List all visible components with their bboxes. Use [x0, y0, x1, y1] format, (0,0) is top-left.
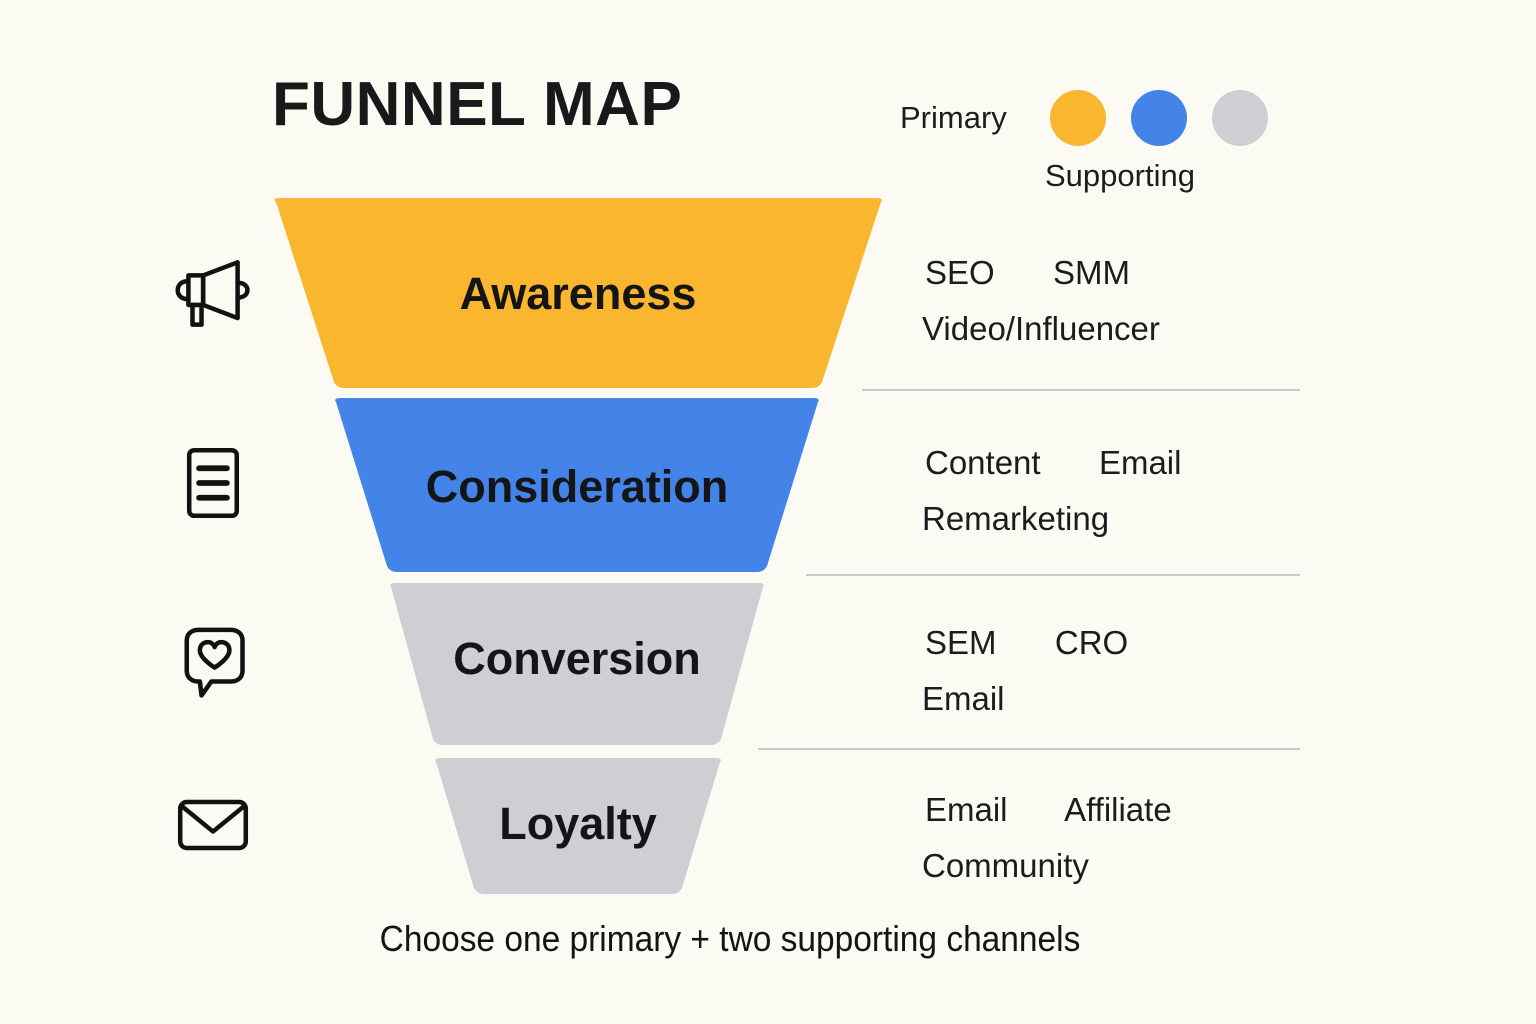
divider-2 [806, 574, 1300, 576]
funnel-segment-consideration[interactable]: Consideration [330, 396, 824, 574]
channel-list-awareness: SEO SMM Video/Influencer [925, 245, 1160, 357]
funnel-label-loyalty: Loyalty [430, 801, 726, 846]
channel-awareness-2: SMM [1053, 254, 1130, 291]
channel-awareness-3: Video/Influencer [922, 310, 1160, 347]
channel-loyalty-2: Affiliate [1064, 791, 1172, 828]
channel-conversion-3: Email [922, 680, 1005, 717]
channel-line-primary: Email Affiliate [925, 782, 1172, 838]
channel-list-consideration: Content Email Remarketing [925, 435, 1181, 547]
channel-list-loyalty: Email Affiliate Community [925, 782, 1172, 894]
channel-line-secondary: Email [922, 671, 1128, 727]
channel-list-conversion: SEM CRO Email [925, 615, 1128, 727]
funnel-segment-conversion[interactable]: Conversion [385, 581, 769, 747]
funnel-label-consideration: Consideration [330, 464, 824, 509]
channel-line-secondary: Video/Influencer [922, 301, 1160, 357]
channel-conversion-1: SEM [925, 624, 997, 661]
channel-consideration-2: Email [1099, 444, 1182, 481]
funnel-segment-awareness[interactable]: Awareness [268, 196, 888, 390]
channel-consideration-1: Content [925, 444, 1041, 481]
chat-heart-icon [172, 620, 254, 702]
channel-line-primary: SEM CRO [925, 615, 1128, 671]
channel-line-secondary: Remarketing [922, 491, 1181, 547]
document-icon [172, 442, 254, 524]
channel-consideration-3: Remarketing [922, 500, 1109, 537]
legend-dot-secondary[interactable] [1131, 90, 1187, 146]
channel-loyalty-1: Email [925, 791, 1008, 828]
funnel-label-conversion: Conversion [385, 636, 769, 681]
channel-line-primary: Content Email [925, 435, 1181, 491]
channel-line-secondary: Community [922, 838, 1172, 894]
page-title: FUNNEL MAP [272, 74, 682, 136]
envelope-icon [172, 784, 254, 866]
legend-dot-primary[interactable] [1050, 90, 1106, 146]
divider-1 [862, 389, 1300, 391]
divider-3 [758, 748, 1300, 750]
channel-line-primary: SEO SMM [925, 245, 1160, 301]
legend-supporting-label: Supporting [1045, 158, 1195, 194]
channel-conversion-2: CRO [1055, 624, 1128, 661]
funnel-segment-loyalty[interactable]: Loyalty [430, 756, 726, 898]
megaphone-icon [172, 250, 254, 332]
channel-awareness-1: SEO [925, 254, 995, 291]
legend: Primary Supporting [895, 78, 1315, 208]
channel-loyalty-3: Community [922, 847, 1089, 884]
funnel-map-infographic: FUNNEL MAP Primary Supporting Awareness … [0, 0, 1536, 1024]
funnel-label-awareness: Awareness [268, 271, 888, 316]
caption: Choose one primary + two supporting chan… [51, 918, 1409, 960]
legend-dot-tertiary[interactable] [1212, 90, 1268, 146]
legend-primary-label: Primary [900, 100, 1007, 136]
